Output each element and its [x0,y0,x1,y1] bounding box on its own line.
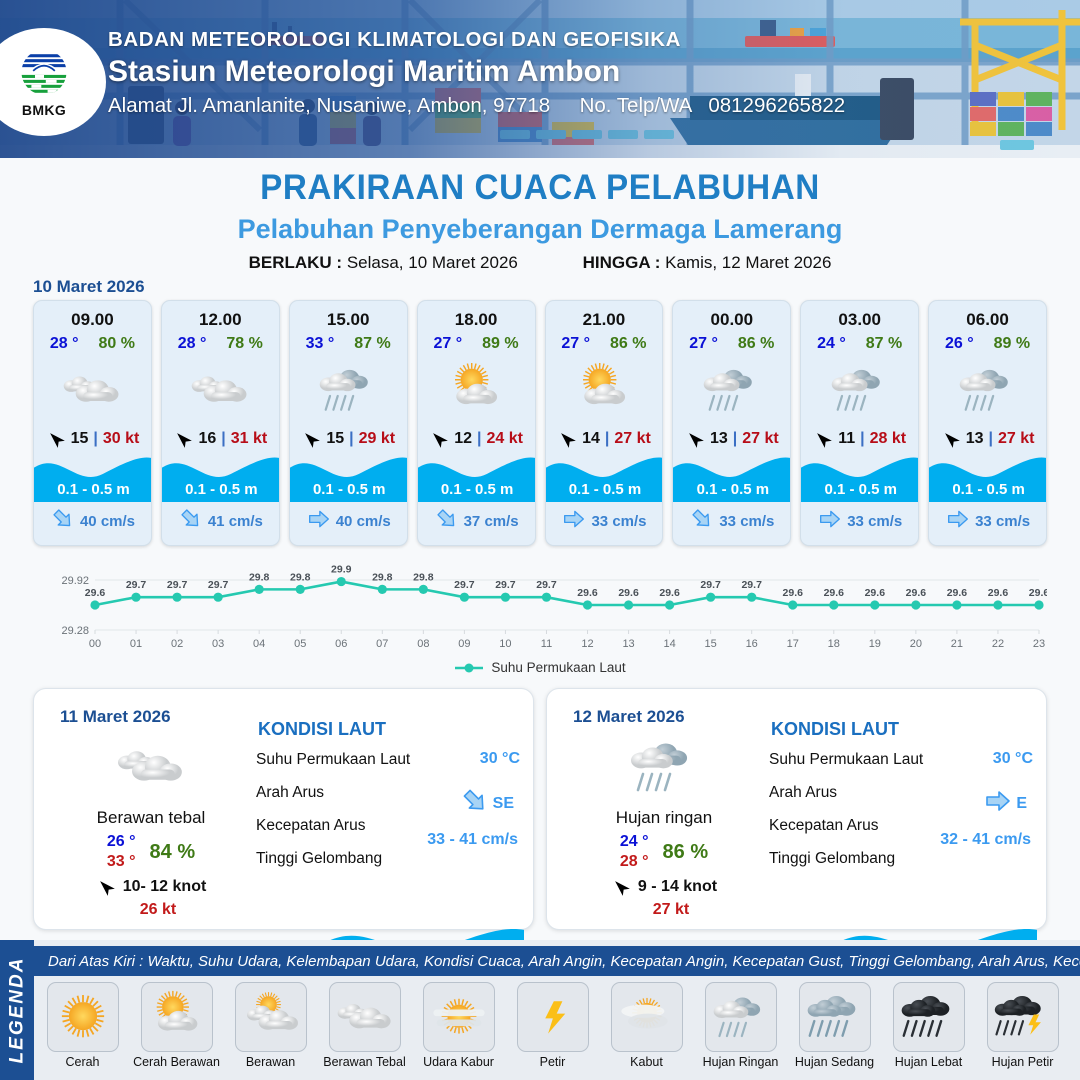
legend-item: Udara Kabur [414,982,503,1076]
legend-item-label: Petir [540,1055,566,1069]
berawan-tebal-icon [190,359,250,421]
card-gust-speed: 24 kt [486,430,522,448]
card-wind-row: 13 | 27 kt [685,429,779,449]
card-humidity: 89 % [994,335,1030,353]
svg-text:12: 12 [581,638,593,650]
panel-temp-min: 26 ° [107,833,136,851]
card-wind-separator: | [221,430,225,448]
svg-text:29.7: 29.7 [700,579,721,591]
card-wave-height: 0.1 - 0.5 m [673,481,791,498]
card-current-row: 33 cm/s [673,508,791,535]
card-wave-height: 0.1 - 0.5 m [801,481,919,498]
arrow-east-icon [947,508,969,535]
page-title: PRAKIRAAN CUACA PELABUHAN [27,168,1053,208]
wind-direction-icon [813,429,833,449]
card-wind-separator: | [349,430,353,448]
page-header: BMKG BADAN METEOROLOGI KLIMATOLOGI DAN G… [0,0,1080,158]
card-humidity: 89 % [482,335,518,353]
station-name: Stasiun Meteorologi Maritim Ambon [108,55,845,89]
phone-label: No. Telp/WA [580,94,692,117]
svg-text:16: 16 [746,638,758,650]
forecast-card: 06.00 26 ° 89 % [928,300,1047,546]
svg-text:22: 22 [992,638,1004,650]
forecast-card: 21.00 27 ° 86 % 14 | 27 kt [545,300,664,546]
daily-forecast-panel: 12 Maret 2026 Hujan ringan 24 ° [546,688,1047,930]
card-time: 12.00 [199,310,242,330]
card-wind-speed: 13 [966,430,984,448]
legend-item-label: Udara Kabur [423,1055,494,1069]
sea-conditions-title: KONDISI LAUT [258,719,524,740]
card-temperature: 27 ° [561,335,590,353]
svg-text:29.6: 29.6 [783,587,804,599]
berawan-tebal-icon [56,734,246,800]
svg-text:29.6: 29.6 [659,587,680,599]
svg-text:29.8: 29.8 [249,571,270,583]
panel-humidity: 84 % [150,841,196,864]
panel-condition: Berawan tebal [56,808,246,828]
svg-text:29.7: 29.7 [208,579,229,591]
wave-height-label: Tinggi Gelombang [769,850,895,867]
svg-text:29.6: 29.6 [618,587,639,599]
legend-item: Cerah Berawan [132,982,221,1076]
svg-text:10: 10 [499,638,511,650]
card-current-row: 33 cm/s [929,508,1047,535]
card-wind-speed: 13 [710,430,728,448]
card-wind-separator: | [605,430,609,448]
wind-direction-icon [557,429,577,449]
hujan-sedang-icon [799,982,871,1052]
legend-item-label: Kabut [630,1055,663,1069]
current-direction-label: Arah Arus [769,784,837,801]
svg-text:29.7: 29.7 [167,579,188,591]
card-humidity: 86 % [738,335,774,353]
svg-text:29.7: 29.7 [741,579,762,591]
card-time: 00.00 [711,310,754,330]
sst-row: Suhu Permukaan Laut 30 °C [256,751,524,773]
sst-chart: 29.9229.2829.60029.70129.70229.70329.804… [33,558,1047,653]
card-temp-humidity: 27 ° 89 % [418,335,535,353]
svg-text:21: 21 [951,638,963,650]
card-time: 18.00 [455,310,498,330]
card-gust-speed: 31 kt [231,430,267,448]
current-direction-row: Arah Arus E [769,784,1037,806]
hourly-forecast-row: 09.00 28 ° 80 % [33,300,1047,546]
card-gust-speed: 27 kt [998,430,1034,448]
legend-item: Berawan [226,982,315,1076]
card-humidity: 78 % [226,335,262,353]
wave-height-row: Tinggi Gelombang [769,850,1037,872]
card-current-speed: 33 cm/s [975,513,1030,530]
card-wind-speed: 11 [838,430,855,448]
panel-wind-row: 10- 12 knot [56,877,246,897]
wind-direction-icon [941,429,961,449]
card-gust-speed: 27 kt [614,430,650,448]
current-direction-value: SE [493,795,514,813]
daily-forecast-panels: 11 Maret 2026 Berawan tebal 26 ° [33,688,1047,930]
svg-text:02: 02 [171,638,183,650]
card-temp-humidity: 27 ° 86 % [546,335,663,353]
legend-item-label: Cerah [65,1055,99,1069]
legend-item-label: Hujan Sedang [795,1055,874,1069]
svg-text:29.6: 29.6 [85,587,106,599]
card-wave-height: 0.1 - 0.5 m [418,481,536,498]
card-wind-separator: | [477,430,481,448]
svg-text:29.6: 29.6 [865,587,886,599]
card-humidity: 86 % [610,335,646,353]
kabut-icon [611,982,683,1052]
forecast-card: 03.00 24 ° 87 % [800,300,919,546]
berawan-icon [235,982,307,1052]
panel-temp-max: 28 ° [620,853,649,871]
legend-note-strip: Dari Atas Kiri : Waktu, Suhu Udara, Kele… [34,946,1080,976]
hujan-ringan-icon [830,359,890,421]
card-current-speed: 40 cm/s [80,513,135,530]
current-direction-row: Arah Arus SE [256,784,524,806]
panel-left-column: Berawan tebal 26 ° 33 ° 84 % 10- 12 knot… [56,734,246,919]
svg-text:13: 13 [622,638,634,650]
card-current-speed: 40 cm/s [336,513,391,530]
card-wind-separator: | [988,430,992,448]
sst-chart-canvas: 29.9229.2829.60029.70129.70229.70329.804… [33,558,1047,653]
svg-text:29.8: 29.8 [290,571,311,583]
valid-until-value: Kamis, 12 Maret 2026 [665,253,831,272]
card-current-row: 37 cm/s [418,508,536,535]
current-speed-label: Kecepatan Arus [256,817,365,834]
panel-wind-row: 9 - 14 knot [569,877,759,897]
chart-legend-marker-icon [454,662,484,674]
cerah-berawan-icon [141,982,213,1052]
card-wind-row: 14 | 27 kt [557,429,651,449]
arrow-east-icon [819,508,841,535]
wave-height-label: Tinggi Gelombang [256,850,382,867]
svg-text:23: 23 [1033,638,1045,650]
card-temperature: 27 ° [689,335,718,353]
arrow-southeast-icon [436,508,458,535]
panel-date: 12 Maret 2026 [573,707,685,727]
legend-item: Hujan Lebat [884,982,973,1076]
legend-tab-label: LEGENDA [6,957,28,1064]
card-current-speed: 33 cm/s [847,513,902,530]
sst-value: 30 °C [480,750,520,768]
panel-humidity: 86 % [663,841,709,864]
svg-text:29.6: 29.6 [577,587,598,599]
card-wind-speed: 15 [71,430,89,448]
panel-gust-speed: 27 kt [569,901,759,919]
card-wind-separator: | [733,430,737,448]
card-wind-row: 12 | 24 kt [429,429,523,449]
legend-item-label: Hujan Petir [992,1055,1054,1069]
hujan-lebat-icon [893,982,965,1052]
forecast-card: 15.00 33 ° 87 % [289,300,408,546]
sea-conditions-title: KONDISI LAUT [771,719,1037,740]
card-humidity: 80 % [99,335,135,353]
panel-gust-speed: 26 kt [56,901,246,919]
card-current-speed: 37 cm/s [464,513,519,530]
svg-text:11: 11 [541,638,552,650]
card-temperature: 33 ° [306,335,335,353]
cerah-berawan-icon [574,359,634,421]
svg-text:29.8: 29.8 [372,571,393,583]
svg-text:29.7: 29.7 [126,579,147,591]
current-speed-row: Kecepatan Arus 33 - 41 cm/s [256,817,524,839]
phone-number: 081296265822 [708,94,845,117]
chart-legend-label: Suhu Permukaan Laut [491,660,625,675]
legend-item: Kabut [602,982,691,1076]
card-wave-height: 0.1 - 0.5 m [546,481,664,498]
card-wind-row: 15 | 29 kt [301,429,395,449]
wave-height-row: Tinggi Gelombang [256,850,524,872]
legend-tab: LEGENDA [0,940,34,1080]
card-time: 21.00 [583,310,626,330]
card-temp-humidity: 33 ° 87 % [290,335,407,353]
hujan-ringan-icon [318,359,378,421]
current-speed-value: 33 - 41 cm/s [427,831,518,849]
sst-label: Suhu Permukaan Laut [769,751,923,768]
svg-text:29.6: 29.6 [947,587,968,599]
current-direction-value-group: E [985,788,1027,819]
sst-value: 30 °C [993,750,1033,768]
panel-sea-conditions: KONDISI LAUT Suhu Permukaan Laut 30 °C A… [769,719,1037,872]
panel-date: 11 Maret 2026 [60,707,171,727]
svg-text:29.7: 29.7 [495,579,516,591]
card-current-row: 33 cm/s [801,508,919,535]
arrow-east-icon [563,508,585,535]
card-temp-humidity: 26 ° 89 % [929,335,1046,353]
svg-text:05: 05 [294,638,306,650]
card-wind-separator: | [860,430,864,448]
panel-temp-max: 33 ° [107,853,136,871]
arrow-southeast-icon [462,788,488,819]
svg-text:18: 18 [828,638,840,650]
card-temperature: 24 ° [817,335,846,353]
title-section: PRAKIRAAN CUACA PELABUHAN Pelabuhan Peny… [0,168,1080,273]
arrow-southeast-icon [52,508,74,535]
svg-text:04: 04 [253,638,265,650]
card-time: 15.00 [327,310,370,330]
card-temp-humidity: 28 ° 80 % [34,335,151,353]
svg-text:09: 09 [458,638,470,650]
petir-icon [517,982,589,1052]
current-direction-label: Arah Arus [256,784,324,801]
card-current-speed: 33 cm/s [719,513,774,530]
sst-label: Suhu Permukaan Laut [256,751,410,768]
hujan-ringan-icon [958,359,1018,421]
legend-section: LEGENDA Dari Atas Kiri : Waktu, Suhu Uda… [0,940,1080,1080]
card-temperature: 27 ° [434,335,463,353]
legend-item: Hujan Petir [978,982,1067,1076]
legend-icon-row: Cerah Cerah Berawan [38,982,1076,1076]
card-temp-humidity: 24 ° 87 % [801,335,918,353]
card-humidity: 87 % [866,335,902,353]
bmkg-logo-text: BMKG [22,102,66,118]
svg-text:29.6: 29.6 [988,587,1009,599]
forecast-card: 09.00 28 ° 80 % [33,300,152,546]
wind-direction-icon [685,429,705,449]
valid-until-label: HINGGA : [583,253,661,272]
arrow-east-icon [985,788,1011,819]
validity-line: BERLAKU : Selasa, 10 Maret 2026 HINGGA :… [0,253,1080,273]
card-wave-height: 0.1 - 0.5 m [34,481,152,498]
svg-text:29.9: 29.9 [331,564,352,576]
panel-temp-min: 24 ° [620,833,649,851]
hujan-ringan-icon [702,359,762,421]
legend-item-label: Berawan Tebal [323,1055,405,1069]
panel-left-column: Hujan ringan 24 ° 28 ° 86 % 9 - 14 knot … [569,734,759,919]
card-current-speed: 41 cm/s [208,513,263,530]
forecast-card: 00.00 27 ° 86 % [672,300,791,546]
card-wind-row: 13 | 27 kt [941,429,1035,449]
legend-item: Hujan Sedang [790,982,879,1076]
card-wave-height: 0.1 - 0.5 m [290,481,408,498]
card-wind-separator: | [93,430,97,448]
legend-item: Berawan Tebal [320,982,409,1076]
card-temperature: 28 ° [50,335,79,353]
udara-kabur-icon [423,982,495,1052]
card-time: 03.00 [838,310,881,330]
arrow-east-icon [308,508,330,535]
svg-text:00: 00 [89,638,101,650]
arrow-southeast-icon [691,508,713,535]
wind-direction-icon [46,429,66,449]
legend-item-label: Hujan Ringan [703,1055,779,1069]
card-wind-speed: 12 [454,430,472,448]
wind-direction-icon [96,877,116,897]
card-wind-speed: 15 [326,430,344,448]
svg-text:01: 01 [130,638,142,650]
legend-item: Hujan Ringan [696,982,785,1076]
legend-note-text: Dari Atas Kiri : Waktu, Suhu Udara, Kele… [48,953,1080,970]
card-wind-speed: 14 [582,430,600,448]
valid-from-value: Selasa, 10 Maret 2026 [347,253,518,272]
berawan-tebal-icon [329,982,401,1052]
legend-item: Cerah [38,982,127,1076]
legend-item-label: Cerah Berawan [133,1055,220,1069]
svg-text:17: 17 [787,638,799,650]
hujan-petir-icon [987,982,1059,1052]
current-speed-value: 32 - 41 cm/s [940,831,1031,849]
legend-item-label: Hujan Lebat [895,1055,962,1069]
card-wind-row: 16 | 31 kt [173,429,267,449]
arrow-southeast-icon [180,508,202,535]
svg-text:07: 07 [376,638,388,650]
svg-text:29.28: 29.28 [61,625,89,637]
current-direction-value: E [1016,795,1027,813]
card-gust-speed: 29 kt [359,430,395,448]
card-current-row: 33 cm/s [546,508,664,535]
forecast-card: 18.00 27 ° 89 % 12 | 24 kt [417,300,536,546]
card-temp-humidity: 28 ° 78 % [162,335,279,353]
card-wind-row: 15 | 30 kt [46,429,140,449]
card-current-row: 40 cm/s [290,508,408,535]
wind-direction-icon [429,429,449,449]
svg-text:06: 06 [335,638,347,650]
panel-condition: Hujan ringan [569,808,759,828]
svg-text:29.8: 29.8 [413,571,434,583]
svg-text:29.7: 29.7 [536,579,557,591]
cerah-berawan-icon [446,359,506,421]
cerah-icon [47,982,119,1052]
current-speed-row: Kecepatan Arus 32 - 41 cm/s [769,817,1037,839]
wind-direction-icon [301,429,321,449]
forecast-date-label: 10 Maret 2026 [33,277,145,297]
agency-name: BADAN METEOROLOGI KLIMATOLOGI DAN GEOFIS… [108,28,845,52]
berawan-tebal-icon [62,359,122,421]
card-current-row: 40 cm/s [34,508,152,535]
card-wind-row: 11 | 28 kt [813,429,906,449]
legend-item-label: Berawan [246,1055,295,1069]
panel-temp-humidity: 24 ° 28 ° 86 % [569,833,759,871]
card-gust-speed: 30 kt [103,430,139,448]
card-temp-humidity: 27 ° 86 % [673,335,790,353]
header-text-block: BADAN METEOROLOGI KLIMATOLOGI DAN GEOFIS… [108,28,845,118]
svg-text:14: 14 [663,638,675,650]
card-gust-speed: 27 kt [742,430,778,448]
card-current-row: 41 cm/s [162,508,280,535]
card-time: 06.00 [966,310,1009,330]
sst-row: Suhu Permukaan Laut 30 °C [769,751,1037,773]
bmkg-emblem-icon [17,47,71,101]
svg-text:29.6: 29.6 [824,587,845,599]
chart-legend: Suhu Permukaan Laut [0,660,1080,675]
card-time: 09.00 [71,310,114,330]
svg-text:29.7: 29.7 [454,579,475,591]
svg-text:08: 08 [417,638,429,650]
svg-text:15: 15 [705,638,717,650]
valid-from-label: BERLAKU : [249,253,343,272]
card-wave-height: 0.1 - 0.5 m [929,481,1047,498]
address-text: Alamat Jl. Amanlanite, Nusaniwe, Ambon, … [108,94,550,117]
card-temperature: 26 ° [945,335,974,353]
current-speed-label: Kecepatan Arus [769,817,878,834]
daily-forecast-panel: 11 Maret 2026 Berawan tebal 26 ° [33,688,534,930]
hujan-ringan-icon [569,734,759,800]
card-humidity: 87 % [354,335,390,353]
card-current-speed: 33 cm/s [591,513,646,530]
hujan-ringan-icon [705,982,777,1052]
card-gust-speed: 28 kt [870,430,906,448]
svg-text:29.6: 29.6 [906,587,927,599]
contact-line: Alamat Jl. Amanlanite, Nusaniwe, Ambon, … [108,94,845,118]
panel-sea-conditions: KONDISI LAUT Suhu Permukaan Laut 30 °C A… [256,719,524,872]
svg-text:20: 20 [910,638,922,650]
current-direction-value-group: SE [462,788,514,819]
svg-text:29.6: 29.6 [1029,587,1047,599]
panel-wind-speed: 10- 12 knot [123,878,207,896]
card-wind-speed: 16 [198,430,216,448]
svg-text:03: 03 [212,638,224,650]
panel-temp-humidity: 26 ° 33 ° 84 % [56,833,246,871]
svg-text:19: 19 [869,638,881,650]
legend-item: Petir [508,982,597,1076]
svg-text:29.92: 29.92 [61,575,89,587]
page-subtitle: Pelabuhan Penyeberangan Dermaga Lamerang [0,214,1080,245]
card-temperature: 28 ° [178,335,207,353]
card-wave-height: 0.1 - 0.5 m [162,481,280,498]
panel-wind-speed: 9 - 14 knot [638,878,717,896]
wind-direction-icon [173,429,193,449]
forecast-card: 12.00 28 ° 78 % [161,300,280,546]
wind-direction-icon [611,877,631,897]
